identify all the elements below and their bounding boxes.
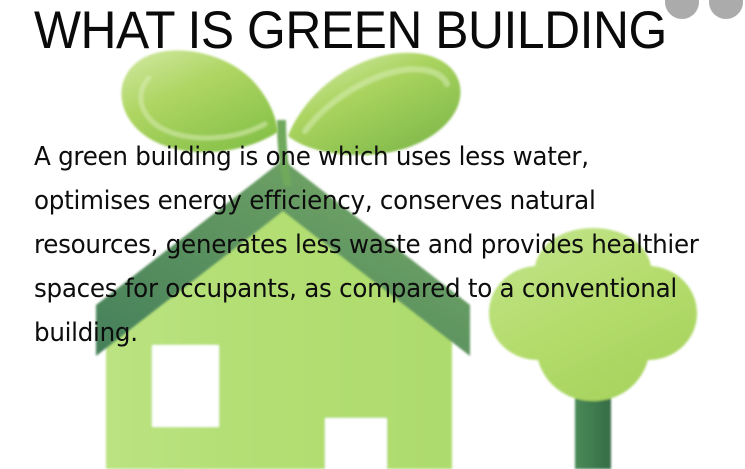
text-layer: WHAT IS GREEN BUILDING A green building … (0, 0, 745, 469)
page-title: WHAT IS GREEN BUILDING (34, 2, 667, 60)
body-paragraph: A green building is one which uses less … (34, 135, 700, 355)
overlay-controls (645, 0, 745, 16)
slide-canvas: WHAT IS GREEN BUILDING A green building … (0, 0, 745, 469)
